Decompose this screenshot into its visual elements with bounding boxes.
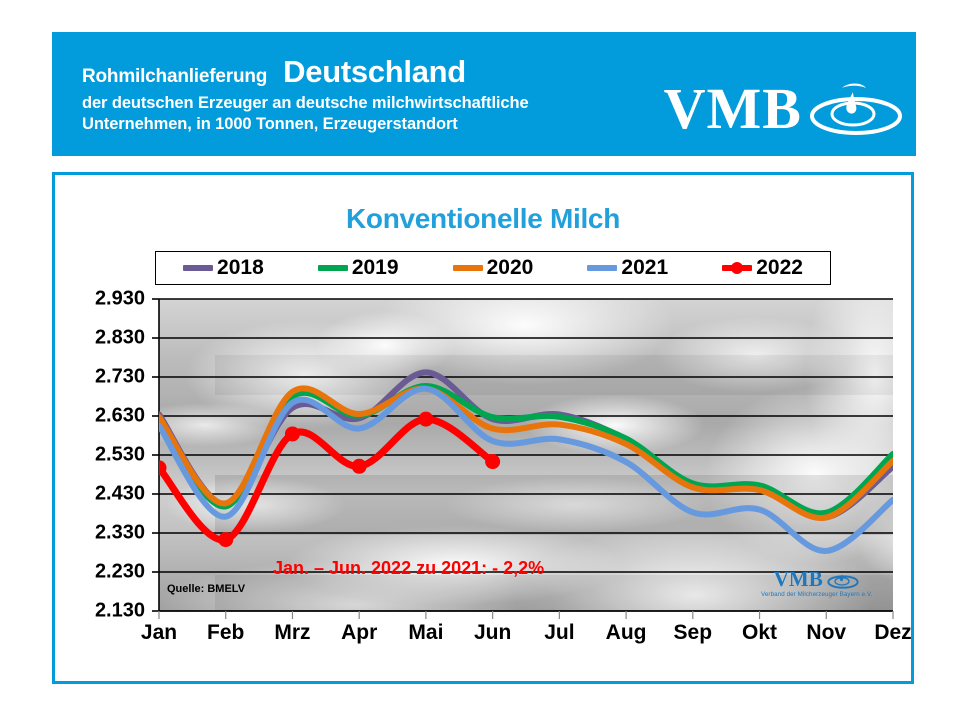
y-axis-tick-label: 2.230 [41, 561, 159, 584]
milk-drop-icon [808, 80, 904, 140]
data-point-marker [418, 412, 433, 427]
header-subtitle-line-1: der deutschen Erzeuger an deutsche milch… [82, 94, 529, 113]
y-axis-tick-label: 2.530 [41, 444, 159, 467]
mini-vmb-subtitle: Verband der Milcherzeuger Bayern e.V. [761, 591, 872, 598]
data-point-marker [352, 459, 367, 474]
x-axis-tick-label: Apr [341, 621, 377, 645]
vmb-logo-wordmark: VMB [664, 80, 802, 138]
y-axis-labels: 2.9302.8302.7302.6302.5302.4302.3302.230… [55, 175, 159, 611]
mini-vmb-wordmark: VMB [774, 569, 823, 590]
header-title-small: Rohmilchanlieferung [82, 66, 267, 88]
header-title-big: Deutschland [283, 54, 466, 90]
x-axis-tick-label: Jun [474, 621, 511, 645]
header-subtitle-line-2: Unternehmen, in 1000 Tonnen, Erzeugersta… [82, 115, 529, 134]
comparison-annotation: Jan. – Jun. 2022 zu 2021: - 2,2% [273, 558, 544, 579]
mini-vmb-logo: VMB Verband der Milcherzeuger Bayern e.V… [761, 569, 872, 598]
x-axis-tick-label: Nov [806, 621, 846, 645]
y-axis-tick-label: 2.330 [41, 522, 159, 545]
data-point-marker [218, 532, 233, 547]
x-axis [159, 611, 893, 619]
plot-area-wrapper: 2.9302.8302.7302.6302.5302.4302.3302.230… [55, 175, 917, 687]
x-axis-tick-label: Mai [408, 621, 443, 645]
vmb-logo: VMB [664, 78, 904, 140]
chart-panel: Konventionelle Milch 2018 2019 2020 2021 [52, 172, 914, 684]
y-axis-tick-label: 2.830 [41, 327, 159, 350]
x-axis-tick-label: Mrz [274, 621, 310, 645]
data-point-marker [285, 426, 300, 441]
x-axis-tick-label: Feb [207, 621, 244, 645]
x-axis-labels: JanFebMrzAprMaiJunJulAugSepOktNovDez [55, 621, 917, 655]
screenshot-root: Rohmilchanlieferung Deutschland der deut… [0, 0, 960, 720]
y-axis-tick-label: 2.130 [41, 600, 159, 623]
header-title-row: Rohmilchanlieferung Deutschland [82, 54, 529, 90]
x-axis-tick-label: Okt [742, 621, 777, 645]
mini-milk-drop-icon [826, 570, 860, 590]
y-axis-tick-label: 2.430 [41, 483, 159, 506]
x-axis-tick-label: Jan [141, 621, 177, 645]
source-note: Quelle: BMELV [167, 583, 245, 595]
y-axis-tick-label: 2.730 [41, 366, 159, 389]
header-text-block: Rohmilchanlieferung Deutschland der deut… [82, 54, 529, 134]
y-axis-tick-label: 2.930 [41, 288, 159, 311]
data-point-marker [485, 454, 500, 469]
x-axis-tick-label: Aug [606, 621, 647, 645]
header-banner: Rohmilchanlieferung Deutschland der deut… [52, 32, 916, 156]
mini-vmb-row: VMB [774, 569, 860, 590]
plot-svg [55, 175, 917, 687]
y-axis-tick-label: 2.630 [41, 405, 159, 428]
x-axis-tick-label: Dez [874, 621, 911, 645]
x-axis-tick-label: Sep [674, 621, 713, 645]
x-axis-tick-label: Jul [544, 621, 574, 645]
